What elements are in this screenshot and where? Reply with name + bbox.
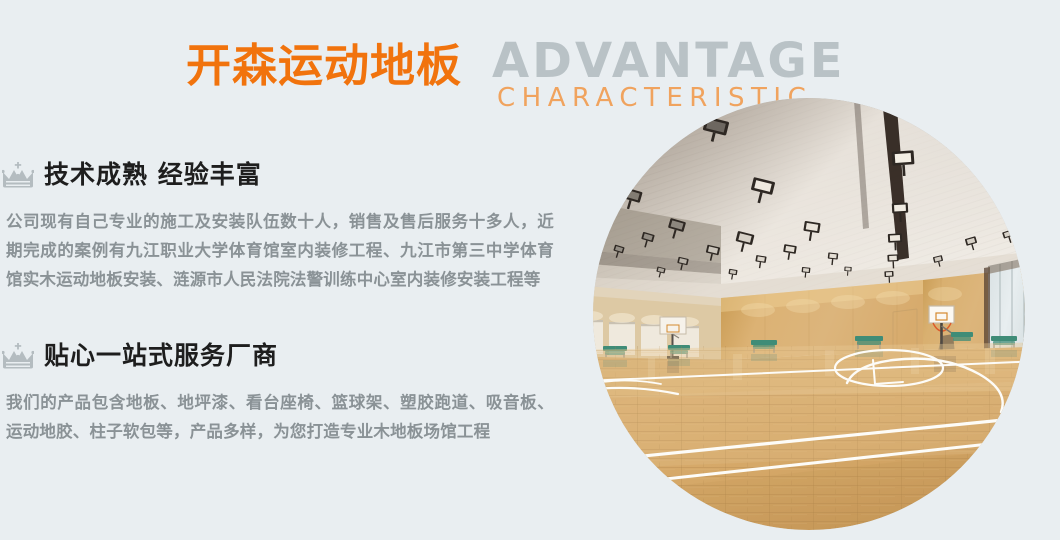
section-2-heading: 贴心一站式服务厂商 [44, 340, 278, 372]
section-2-body: 我们的产品包含地板、地坪漆、看台座椅、篮球架、塑胶跑道、吸音板、运动地胶、柱子软… [0, 388, 554, 446]
advantage-banner: ADVANTAGE 开森运动地板 CHARACTERISTIC [0, 0, 1060, 540]
section-1-heading: 技术成熟 经验丰富 [44, 159, 262, 191]
photo-inner [593, 98, 1025, 530]
gymnasium-illustration [593, 98, 1025, 530]
section-1-body: 公司现有自己专业的施工及安装队伍数十人，销售及售后服务十多人，近期完成的案例有九… [0, 207, 554, 294]
section-1-heading-row: 技术成熟 经验丰富 [0, 155, 580, 195]
advantage-section-1: 技术成熟 经验丰富 公司现有自己专业的施工及安装队伍数十人，销售及售后服务十多人… [0, 155, 580, 294]
basketball-gymnasium-photo [593, 98, 1025, 530]
section-2-heading-row: 贴心一站式服务厂商 [0, 336, 580, 376]
title-chinese: 开森运动地板 [186, 40, 462, 92]
title-english: ADVANTAGE [492, 34, 846, 88]
advantage-section-2: 贴心一站式服务厂商 我们的产品包含地板、地坪漆、看台座椅、篮球架、塑胶跑道、吸音… [0, 336, 580, 446]
crown-icon [2, 162, 34, 189]
advantage-content: 技术成熟 经验丰富 公司现有自己专业的施工及安装队伍数十人，销售及售后服务十多人… [0, 155, 580, 446]
crown-icon [2, 343, 34, 370]
